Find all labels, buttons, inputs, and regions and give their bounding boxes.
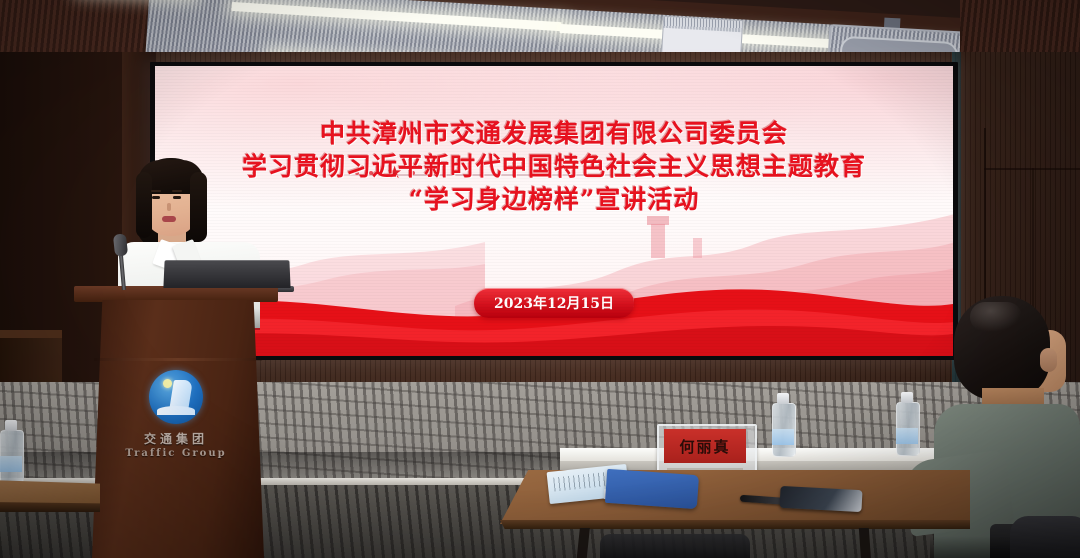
bottle-cap (777, 393, 789, 404)
traffic-group-logo-icon (149, 370, 203, 424)
podium-logo-text-en: Traffic Group (78, 448, 274, 459)
speaker-eyebrow (172, 190, 182, 192)
left-doorway (0, 330, 62, 390)
speaker-eye (173, 196, 181, 199)
ceiling-wood-right (960, 0, 1080, 52)
speaker-hair-left (136, 172, 152, 238)
microphone-icon (113, 233, 128, 256)
slide-title-line-2: 学习贯彻习近平新时代中国特色社会主义思想主题教育 (155, 151, 953, 184)
left-table-top (0, 480, 100, 506)
bottle-label (0, 456, 22, 472)
binder-cover (605, 469, 699, 509)
speaker-hair-right (190, 172, 207, 242)
podium-logo-text-cn: 交通集团 (78, 430, 274, 447)
left-table (0, 480, 100, 558)
speaker-eyebrow (151, 190, 161, 192)
slide-date-badge: 2023年12月15日 (474, 288, 634, 318)
conference-room-scene: ★ 中共漳州市交通发展集团有限公司委员会 学习贯彻习近平新时代中国特色社会主义思… (0, 0, 1080, 558)
laptop-icon (163, 260, 290, 288)
name-plate-card: 何丽真 (664, 429, 746, 463)
speaker-eye (152, 196, 160, 199)
podium-body (92, 300, 264, 558)
speaker-nose (167, 203, 171, 211)
blue-binder-icon (548, 466, 702, 508)
left-table-edge (0, 502, 100, 512)
slide-title-line-3: “学习身边榜样”宣讲活动 (155, 184, 953, 217)
water-bottle-icon (0, 420, 22, 482)
speaker-mouth (162, 216, 176, 222)
foreground-chair (1010, 516, 1080, 558)
speaking-podium: 交通集团 Traffic Group (78, 286, 274, 558)
podium-seam (94, 358, 262, 361)
logo-sun-shape (163, 379, 172, 388)
slide-title-block: 中共漳州市交通发展集团有限公司委员会 学习贯彻习近平新时代中国特色社会主义思想主… (155, 118, 953, 217)
bottle-cap (901, 392, 913, 403)
attendee-hair-highlight (970, 302, 1022, 332)
podium-top (74, 286, 278, 302)
logo-wave-shape (157, 406, 195, 415)
water-bottle-icon (896, 392, 918, 454)
bottle-label (896, 428, 918, 444)
foreground-table-leg (859, 528, 871, 558)
slide-title-line-1: 中共漳州市交通发展集团有限公司委员会 (155, 118, 953, 151)
smartphone-icon (779, 486, 862, 512)
ceiling-access-panel-grill (664, 17, 743, 32)
bottle-label (772, 429, 794, 445)
water-bottle-icon (772, 393, 794, 455)
left-doorway-header (0, 330, 62, 338)
attendee-ear (1040, 348, 1057, 372)
foreground-table-edge (500, 520, 970, 529)
name-plate-text: 何丽真 (679, 436, 730, 457)
foreground-table-leg (576, 528, 590, 558)
slide-surface: ★ 中共漳州市交通发展集团有限公司委员会 学习贯彻习近平新时代中国特色社会主义思… (155, 66, 953, 356)
bottle-cap (5, 420, 17, 431)
name-plate: 何丽真 (657, 424, 753, 470)
